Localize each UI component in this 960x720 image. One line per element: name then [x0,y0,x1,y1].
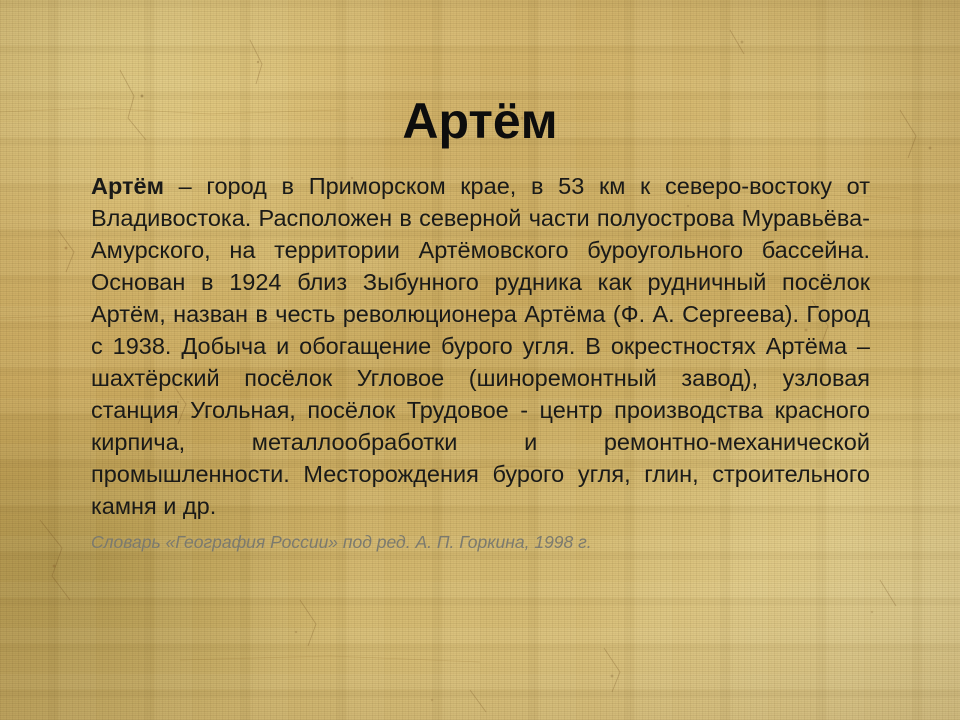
slide-content: Артём Артём – город в Приморском крае, в… [0,0,960,720]
presentation-slide: Артём Артём – город в Приморском крае, в… [0,0,960,720]
body-text-block: Артём – город в Приморском крае, в 53 км… [91,170,870,554]
source-attribution: Словарь «География России» под ред. А. П… [91,530,870,554]
body-paragraph: Артём – город в Приморском крае, в 53 км… [91,170,870,522]
body-text: – город в Приморском крае, в 53 км к сев… [91,173,870,519]
lead-term: Артём [91,173,164,199]
page-title: Артём [0,96,960,146]
